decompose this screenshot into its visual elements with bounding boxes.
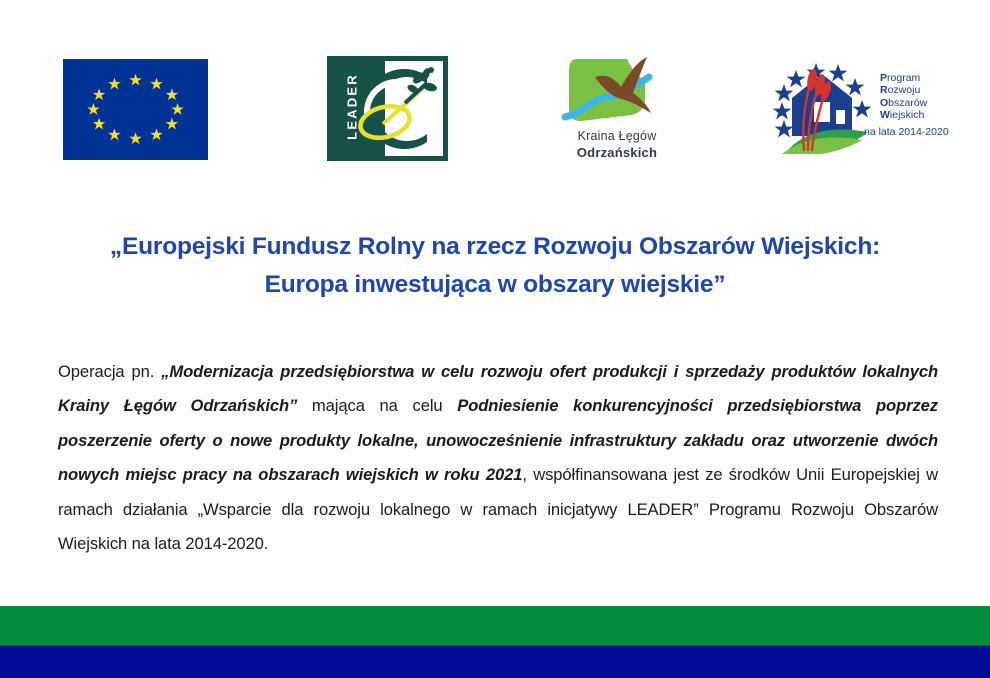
page-title: „Europejski Fundusz Rolny na rzecz Rozwo… <box>0 228 990 304</box>
eu-star-icon <box>93 118 106 131</box>
eu-star-icon <box>171 103 184 116</box>
eu-star-icon <box>108 128 121 141</box>
prow-label-line2: Rozwoju <box>880 84 952 96</box>
poster-page: LEADER Kraina Łęgów Odrzańskich <box>0 0 990 678</box>
page-title-line2: Europa inwestująca w obszary wiejskie” <box>0 266 990 304</box>
prow-graphic-icon <box>768 58 880 154</box>
logo-strip: LEADER Kraina Łęgów Odrzańskich <box>0 0 990 200</box>
kraina-legow-logo: Kraina Łęgów Odrzańskich <box>557 55 677 163</box>
prow-label-line4: Wiejskich <box>880 109 952 121</box>
kraina-label-line1: Kraina Łęgów <box>557 129 677 143</box>
eu-star-icon <box>108 78 121 91</box>
eu-star-icon <box>165 88 178 101</box>
eu-star-icon <box>150 128 163 141</box>
prow-label-line3: Obszarów <box>880 97 952 109</box>
kraina-label-line2: Odrzańskich <box>557 145 677 160</box>
prow-years-label: na lata 2014-2020 <box>864 126 949 138</box>
prow-label: Program Rozwoju Obszarów Wiejskich <box>880 72 952 122</box>
eu-star-icon <box>150 78 163 91</box>
eu-flag-icon <box>63 59 208 160</box>
paragraph-segment: Operacja pn. <box>58 362 161 381</box>
eu-star-icon <box>129 74 142 87</box>
leader-logo-label: LEADER <box>346 63 359 151</box>
eu-star-icon <box>165 118 178 131</box>
eu-star-icon <box>93 88 106 101</box>
eu-star-icon <box>87 103 100 116</box>
page-title-line1: „Europejski Fundusz Rolny na rzecz Rozwo… <box>0 228 990 266</box>
footer-blue-bar <box>0 645 990 678</box>
paragraph-segment: mająca na celu <box>297 396 457 415</box>
leader-logo: LEADER <box>327 56 448 161</box>
prow-logo: Program Rozwoju Obszarów Wiejskich na la… <box>768 58 940 158</box>
operation-description-paragraph: Operacja pn. „Modernizacja przedsiębiors… <box>58 355 938 562</box>
kraina-graphic-icon <box>557 55 677 127</box>
prow-label-line1: Program <box>880 72 952 84</box>
eu-stars-group <box>63 59 208 160</box>
footer-green-bar <box>0 606 990 645</box>
eu-star-icon <box>129 132 142 145</box>
